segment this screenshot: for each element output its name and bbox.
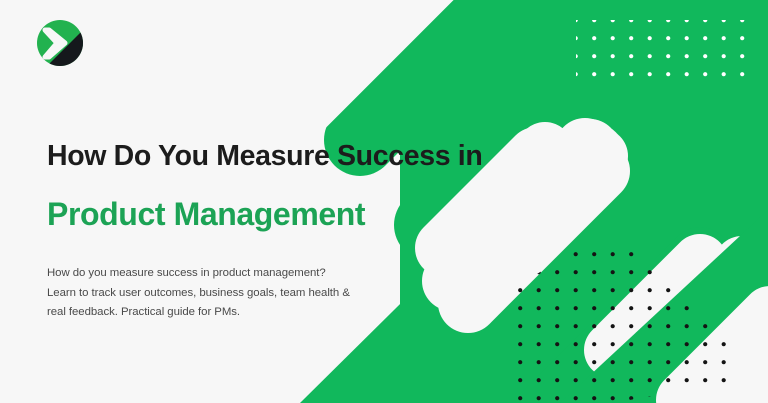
dot-grid-top-right bbox=[576, 20, 750, 78]
headline-line-1: How Do You Measure Success in bbox=[47, 138, 477, 174]
copy-block: How Do You Measure Success in Product Ma… bbox=[47, 138, 477, 323]
description-text: How do you measure success in product ma… bbox=[47, 234, 355, 323]
hero-banner: How Do You Measure Success in Product Ma… bbox=[0, 0, 768, 403]
brand-logo[interactable] bbox=[33, 16, 87, 70]
headline-line-2: Product Management bbox=[47, 174, 477, 234]
